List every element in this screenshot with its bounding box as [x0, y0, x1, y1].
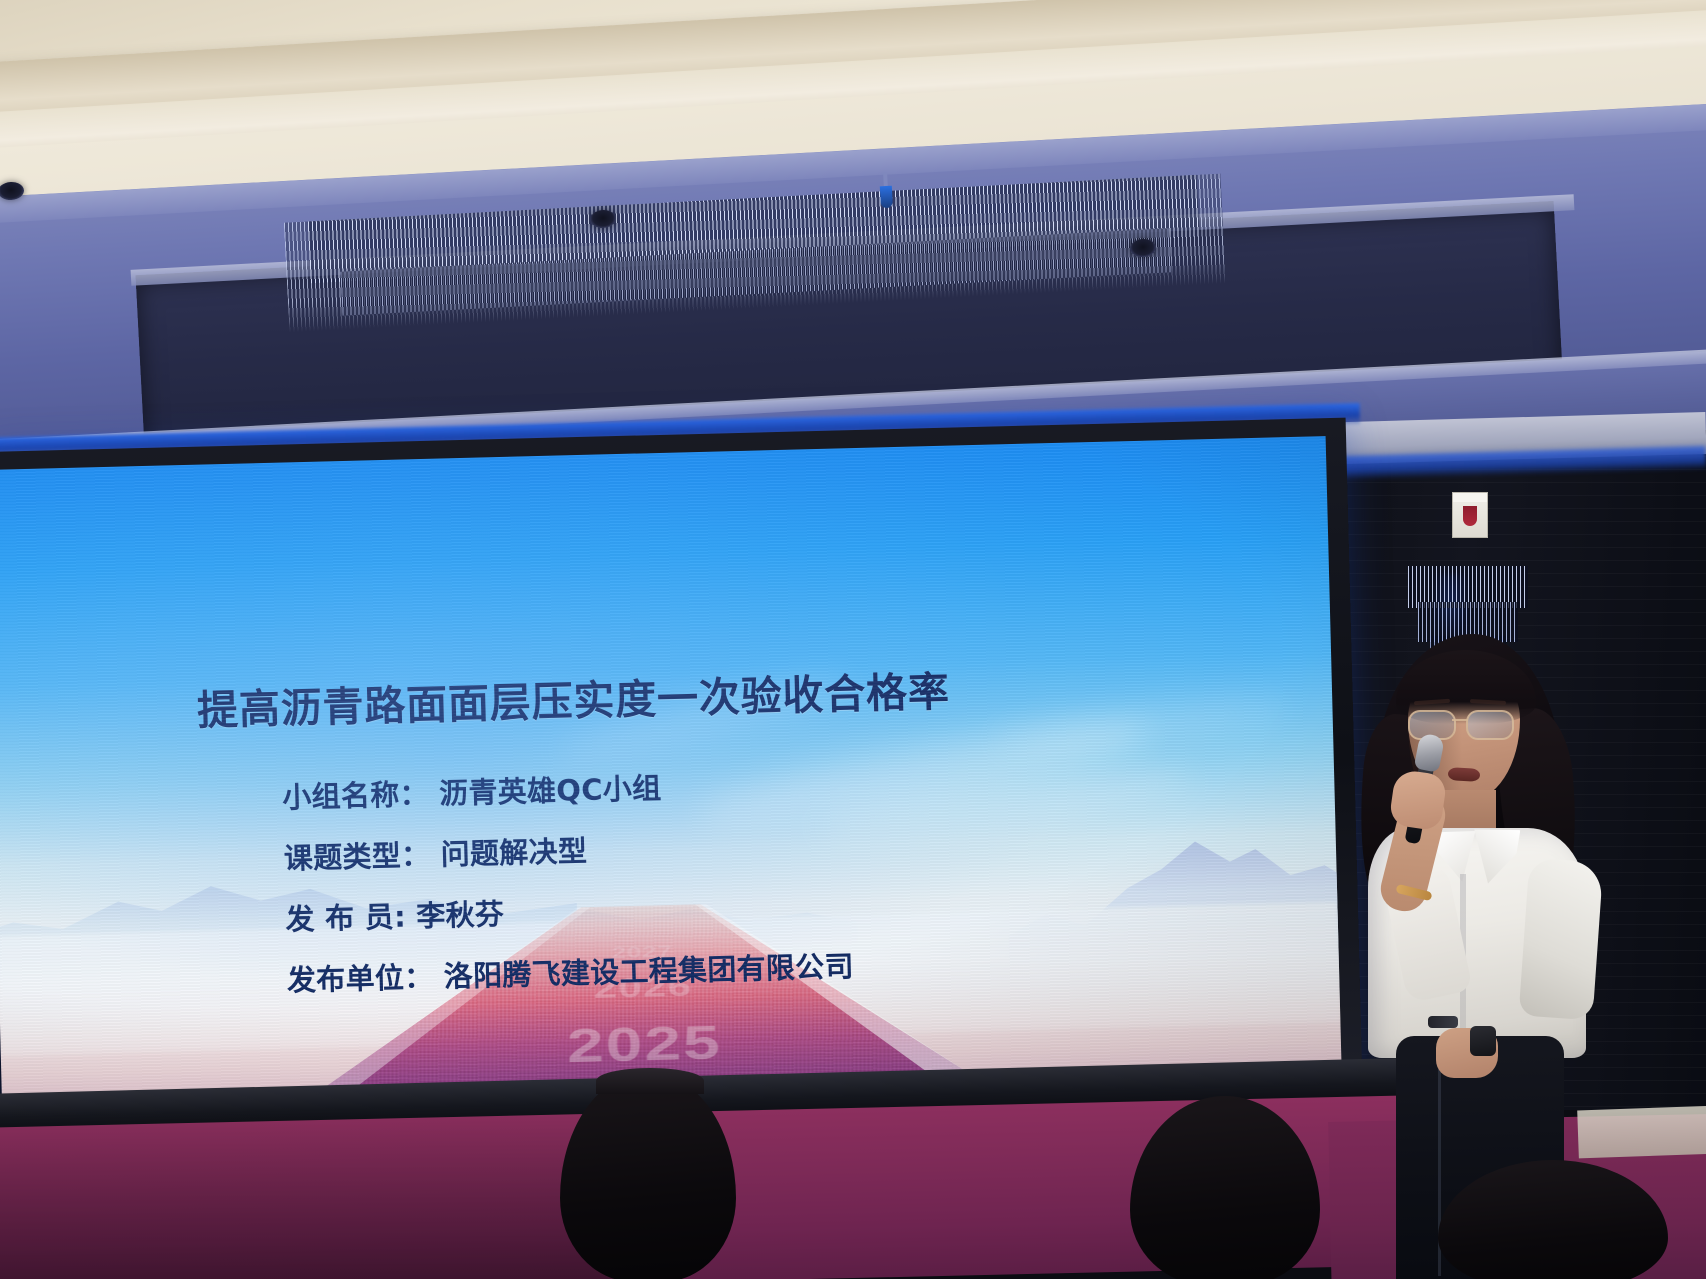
audience-head-crown	[596, 1068, 704, 1094]
foreground-shadow	[0, 1100, 620, 1279]
cloud-wisp	[992, 692, 1293, 756]
presentation-clicker-icon	[1470, 1026, 1496, 1056]
slide-row-team-name: 小组名称： 沥青英雄QC小组	[282, 760, 850, 816]
presenter-hand-holding-mic	[1388, 769, 1447, 832]
led-wall-screen: 2027 2026 2025 提高沥青路面面层压实度一次验收合格率 小组名称： …	[0, 436, 1342, 1100]
presenter-sleeve-right	[1519, 858, 1604, 1021]
emergency-wall-sign	[1452, 492, 1488, 538]
wristwatch-icon	[1428, 1016, 1458, 1028]
slide-title: 提高沥青路面面层压实度一次验收合格率	[196, 658, 950, 737]
sprinkler-head-icon	[877, 172, 895, 209]
slide-info-block: 小组名称： 沥青英雄QC小组 课题类型： 问题解决型 发 布 员: 李秋芬 发布…	[282, 760, 854, 999]
slide-row-presenter: 发 布 员: 李秋芬	[285, 882, 853, 938]
presenter-mouth	[1448, 767, 1481, 782]
slide-row-topic-type: 课题类型： 问题解决型	[283, 821, 851, 877]
fire-extinguisher-icon	[1463, 506, 1477, 526]
conference-hall-photo: 2027 2026 2025 提高沥青路面面层压实度一次验收合格率 小组名称： …	[0, 0, 1706, 1279]
